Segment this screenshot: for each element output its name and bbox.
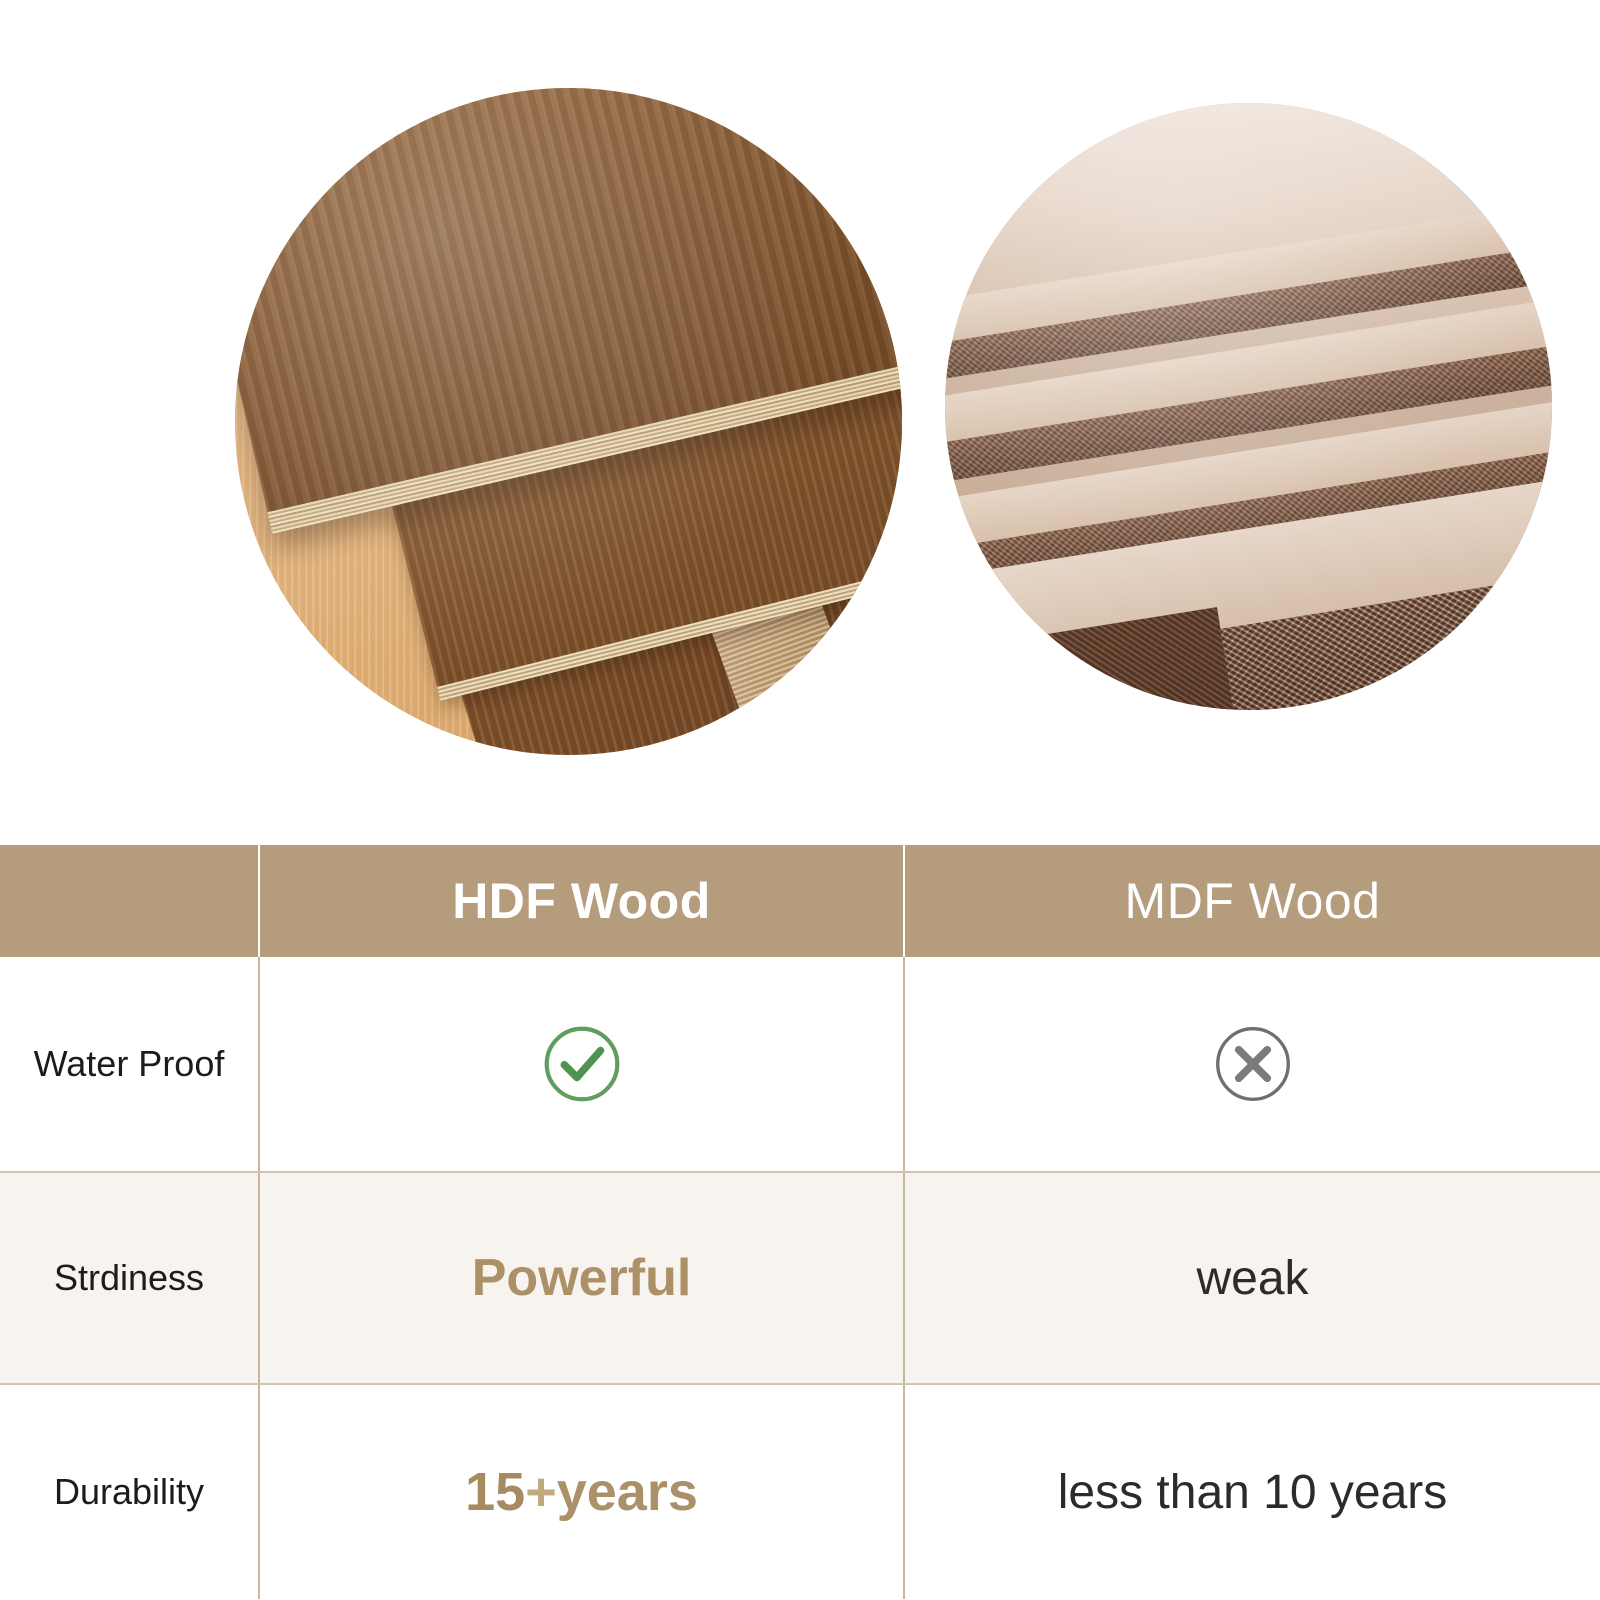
header-label-hdf: HDF Wood <box>452 872 711 930</box>
value-mdf-durability: less than 10 years <box>1058 1465 1448 1520</box>
plywood-hdf-photo <box>235 88 902 755</box>
row-value-cell-mdf: weak <box>903 1173 1600 1383</box>
durability-plus-sign: + <box>525 1462 557 1522</box>
header-cell-hdf: HDF Wood <box>258 845 903 957</box>
row-value-cell-mdf: less than 10 years <box>903 1385 1600 1599</box>
header-corner-cell <box>0 845 258 957</box>
row-label-cell: Durability <box>0 1385 258 1599</box>
mdf-photo <box>945 103 1552 710</box>
header-cell-mdf: MDF Wood <box>903 845 1600 957</box>
row-label-water-proof: Water Proof <box>34 1043 225 1085</box>
row-label-strdiness: Strdiness <box>54 1257 204 1299</box>
row-label-durability: Durability <box>54 1471 204 1513</box>
table-header-row: HDF Wood MDF Wood <box>0 845 1600 957</box>
row-value-cell-hdf <box>258 957 903 1171</box>
x-circle-icon <box>1211 1022 1295 1106</box>
durability-unit: years <box>557 1462 698 1522</box>
table-row: Water Proof <box>0 957 1600 1171</box>
plywood-photo-lighting <box>235 88 902 755</box>
row-value-cell-hdf: Powerful <box>258 1173 903 1383</box>
value-mdf-strdiness: weak <box>1196 1251 1308 1306</box>
value-hdf-durability: 15+years <box>465 1461 698 1523</box>
value-hdf-strdiness: Powerful <box>472 1248 692 1308</box>
row-label-cell: Strdiness <box>0 1173 258 1383</box>
comparison-table: HDF Wood MDF Wood Water Proof <box>0 845 1600 1600</box>
header-label-mdf: MDF Wood <box>1125 872 1381 930</box>
check-circle-icon <box>540 1022 624 1106</box>
mdf-photo-lighting <box>945 103 1552 710</box>
row-label-cell: Water Proof <box>0 957 258 1171</box>
table-row: Strdiness Powerful weak <box>0 1171 1600 1385</box>
row-value-cell-hdf: 15+years <box>258 1385 903 1599</box>
row-value-cell-mdf <box>903 957 1600 1171</box>
table-row: Durability 15+years less than 10 years <box>0 1385 1600 1599</box>
hero-photo-band <box>0 0 1600 845</box>
durability-number: 15 <box>465 1462 525 1522</box>
